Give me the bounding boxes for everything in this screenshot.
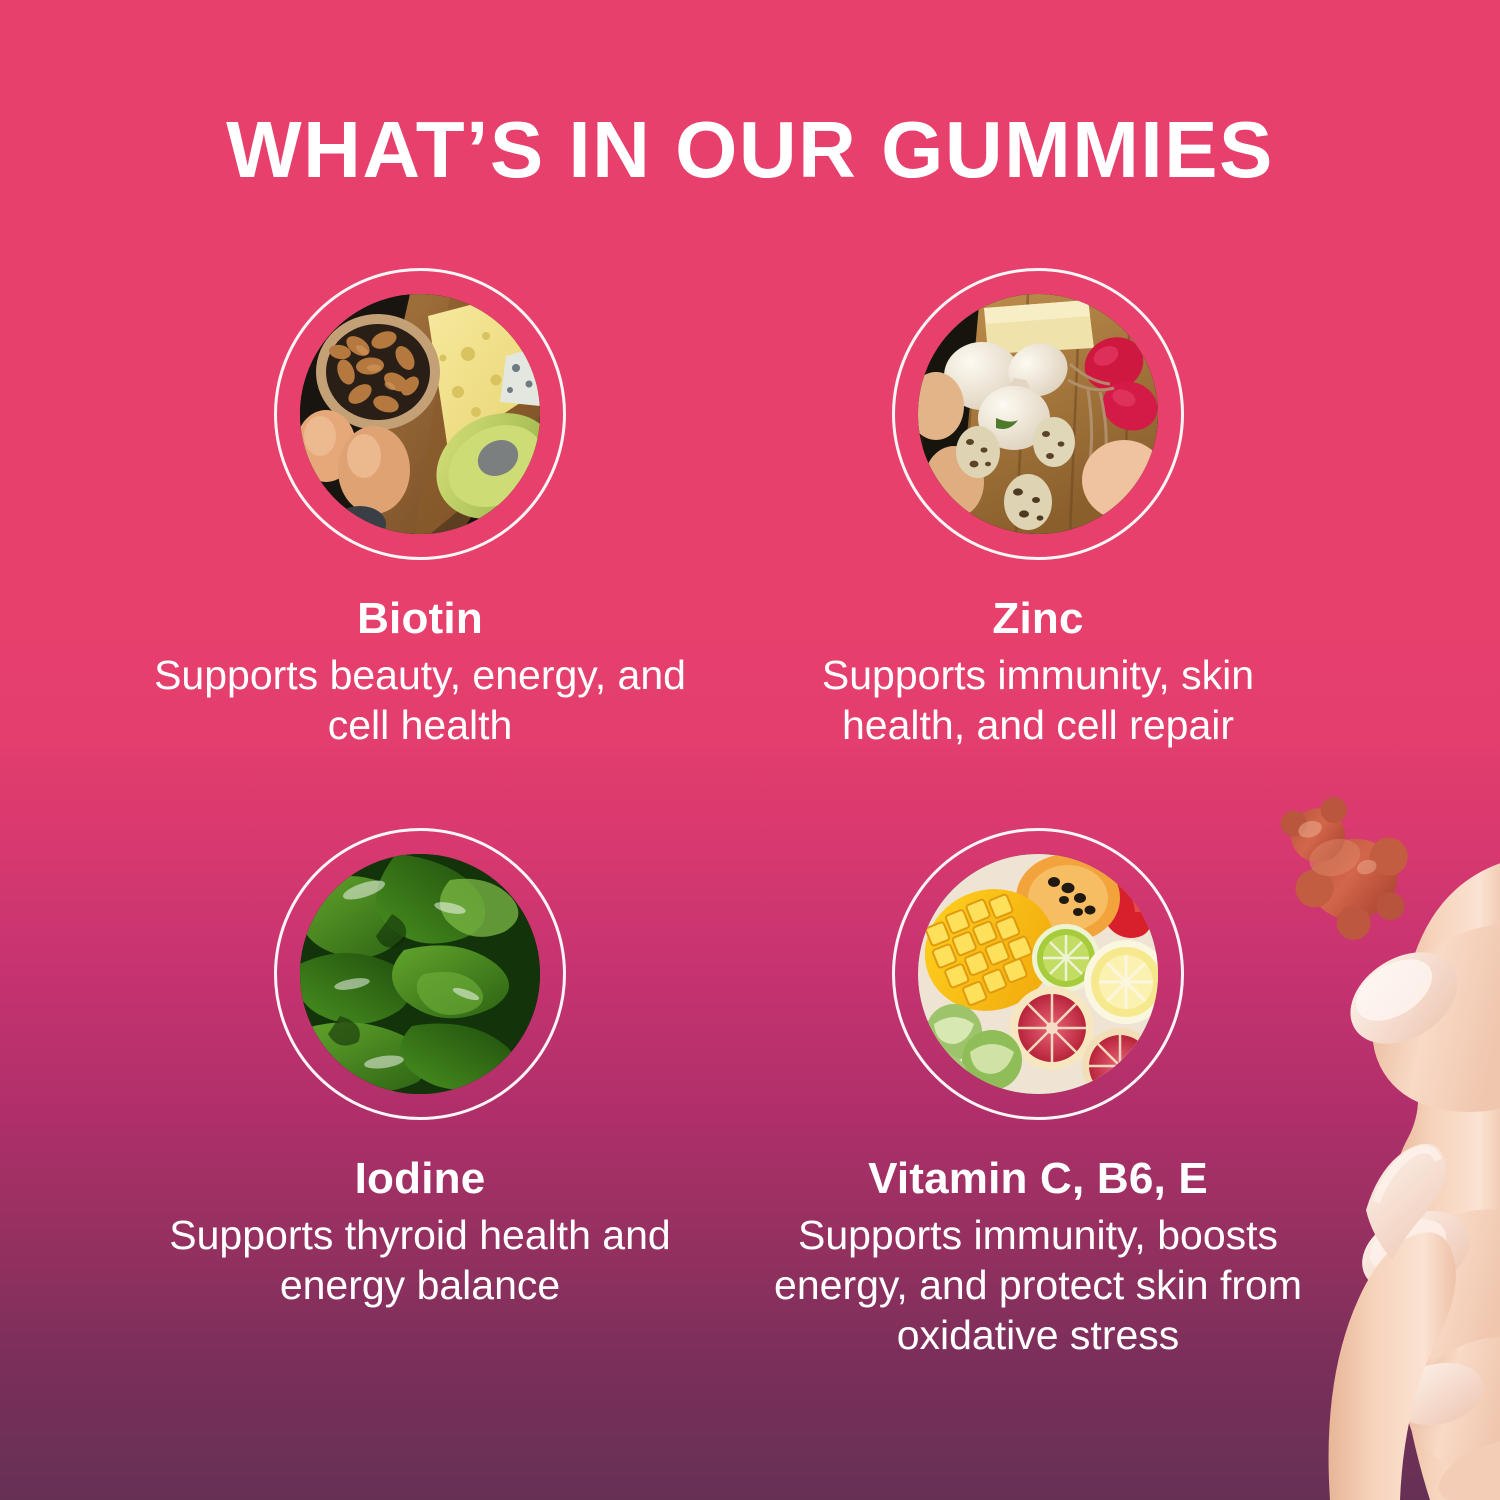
card-title: Iodine — [120, 1154, 720, 1204]
iodine-image-frame — [274, 828, 566, 1120]
ingredient-card-vitamins: Vitamin C, B6, E Supports immunity, boos… — [738, 828, 1338, 1360]
card-title: Zinc — [738, 594, 1338, 644]
vitamins-photo — [918, 854, 1158, 1094]
card-description: Supports beauty, energy, and cell health — [120, 650, 720, 750]
page-title: WHAT’S IN OUR GUMMIES — [0, 106, 1500, 194]
ingredient-card-biotin: Biotin Supports beauty, energy, and cell… — [120, 268, 720, 750]
ingredient-card-zinc: Zinc Supports immunity, skin health, and… — [738, 268, 1338, 750]
iodine-photo — [300, 854, 540, 1094]
card-title: Biotin — [120, 594, 720, 644]
zinc-image-frame — [892, 268, 1184, 560]
biotin-image-frame — [274, 268, 566, 560]
card-title: Vitamin C, B6, E — [738, 1154, 1338, 1204]
ingredient-card-iodine: Iodine Supports thyroid health and energ… — [120, 828, 720, 1310]
card-description: Supports immunity, boosts energy, and pr… — [738, 1210, 1338, 1360]
biotin-photo — [300, 294, 540, 534]
zinc-photo — [918, 294, 1158, 534]
infographic-canvas: WHAT’S IN OUR GUMMIES — [0, 0, 1500, 1500]
vitamins-image-frame — [892, 828, 1184, 1120]
card-description: Supports immunity, skin health, and cell… — [738, 650, 1338, 750]
card-description: Supports thyroid health and energy balan… — [120, 1210, 720, 1310]
